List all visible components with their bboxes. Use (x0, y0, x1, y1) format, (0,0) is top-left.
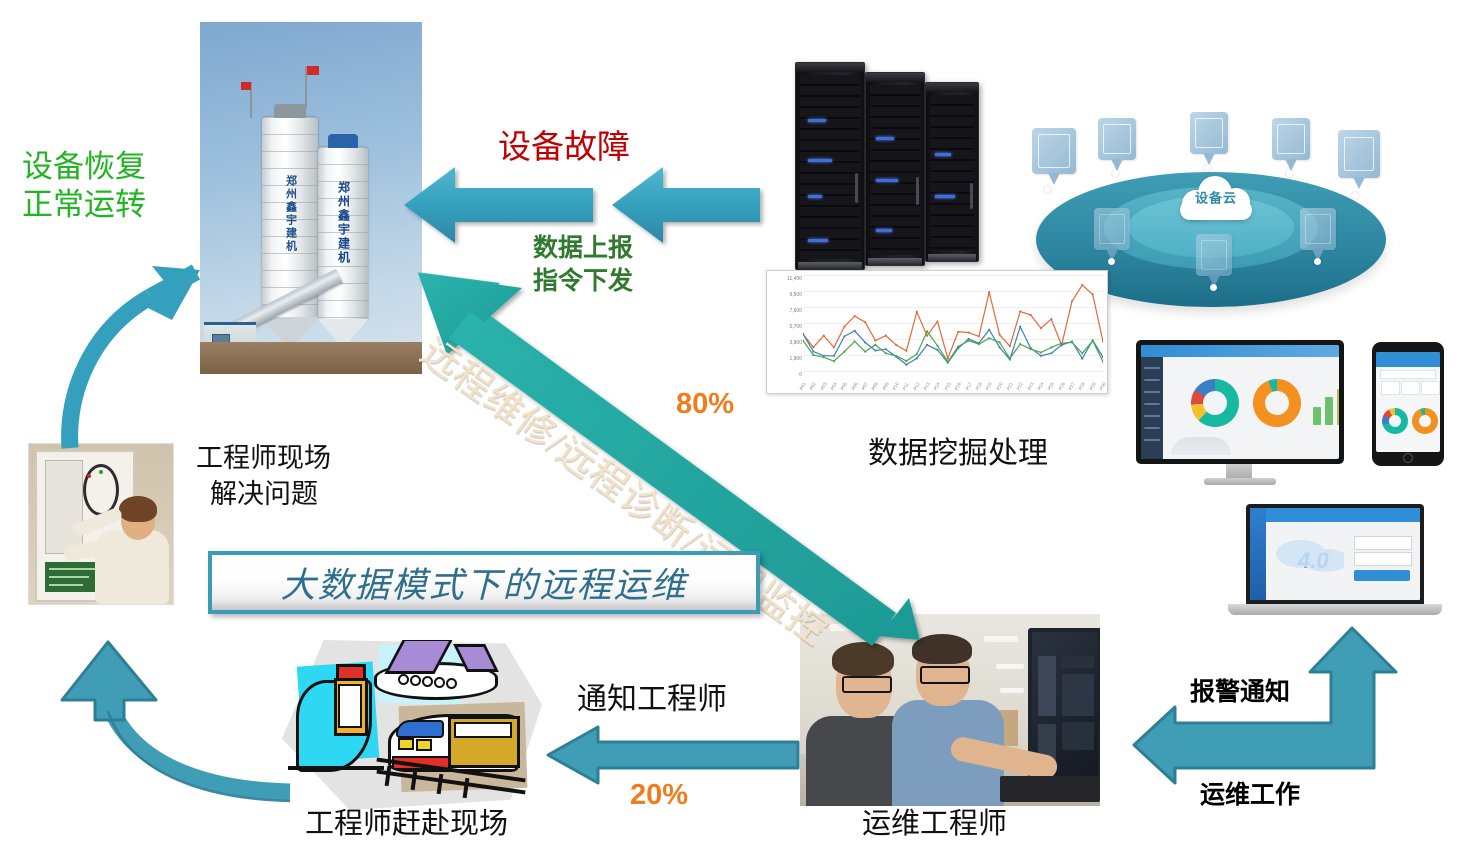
label-data-report-line1: 数据上报 (533, 232, 633, 265)
train-light-1 (398, 738, 414, 750)
chart-data-point (926, 335, 928, 337)
label-data-report-line2: 指令下发 (533, 265, 633, 298)
pin-tablet-icon (1338, 130, 1380, 178)
engineer-1-hair (832, 642, 894, 676)
chart-data-point (1019, 326, 1021, 328)
dispatch-curved-arrow (62, 642, 290, 801)
chart-x-tick: P12 (912, 382, 920, 391)
chart-data-point (916, 357, 918, 359)
chart-data-point (1030, 348, 1032, 350)
chart-x-tick: P17 (964, 382, 972, 391)
chart-x-tick: P21 (1005, 382, 1013, 391)
train-window-blue (396, 720, 444, 738)
pin-monitor-icon (1196, 234, 1232, 276)
chart-data-point (1040, 355, 1042, 357)
train-light-2 (416, 739, 432, 751)
office-keyboard (1000, 776, 1100, 802)
chart-data-point (978, 343, 980, 345)
chart-x-tick: P29 (1088, 382, 1096, 391)
ceiling-light-4 (1000, 688, 1024, 693)
chart-data-point (1102, 340, 1103, 342)
label-engineer-travel: 工程师赶赴现场 (305, 806, 508, 842)
chart-data-point (1081, 352, 1083, 354)
cloud-shape: 设备云 (1176, 172, 1256, 220)
chart-data-point (978, 335, 980, 337)
title-text: 大数据模式下的远程运维 (280, 557, 687, 608)
chart-data-point (957, 346, 959, 348)
chart-data-point (947, 361, 949, 363)
photo-concrete-plant: 郑州鑫宇建机 郑州鑫宇建机 (200, 22, 422, 374)
chart-data-point (988, 291, 990, 293)
diagram-canvas: 郑州鑫宇建机 郑州鑫宇建机 (0, 0, 1471, 858)
photo-engineer-cabinet (28, 443, 174, 605)
chart-data-point (926, 330, 928, 332)
chart-data-point (1050, 318, 1052, 320)
ceiling-light-2 (984, 636, 1018, 642)
engineer-2-glasses (920, 666, 970, 684)
server-rack-3 (925, 82, 979, 262)
title-plaque: 大数据模式下的远程运维 (208, 551, 760, 614)
cabinet-interior (45, 460, 83, 554)
chart-data-point (999, 334, 1001, 336)
pin-contact-icon (1190, 112, 1228, 154)
device-laptop-screen: 4.0 (1246, 504, 1424, 604)
pin-document-icon (1094, 208, 1130, 250)
engineer-2-hair (912, 634, 972, 664)
dashboard-screen (1141, 345, 1339, 459)
ceiling-light-3 (996, 664, 1024, 669)
pin-message-icon (1272, 118, 1310, 160)
chart-data-point (936, 320, 938, 322)
bar-1 (1313, 407, 1321, 425)
recover-curved-arrow (70, 266, 200, 448)
technician-hair (119, 496, 157, 522)
label-device-recover-line1: 设备恢复 (22, 148, 146, 186)
chart-data-point (926, 344, 928, 346)
chart-data-point (1040, 351, 1042, 353)
chart-data-point (1081, 358, 1083, 360)
chart-data-point (967, 340, 969, 342)
ceiling-light-1 (830, 624, 884, 631)
device-desktop-monitor (1136, 340, 1344, 464)
chart-x-tick: P11 (902, 382, 910, 391)
fault-arrow-right (612, 167, 760, 243)
ship-container-white (338, 684, 362, 728)
chart-x-tick: P13 (923, 382, 931, 391)
chart-data-point (1040, 327, 1042, 329)
chart-y-tick: 9,500 (789, 292, 802, 298)
device-mobile-phone (1372, 342, 1444, 466)
server-rack-1 (795, 62, 865, 270)
label-engineer-onsite: 工程师现场 解决问题 (196, 440, 331, 512)
photo-office-engineers (800, 614, 1100, 806)
photo-laptop-login: 4.0 (1210, 498, 1462, 628)
pin-calendar-icon (1098, 118, 1136, 160)
chart-data-point (905, 360, 907, 362)
chart-x-tick: P16 (954, 382, 962, 391)
label-alarm-notice: 报警通知 (1190, 672, 1290, 708)
chart-data-point (988, 329, 990, 331)
chart-data-point (988, 337, 990, 339)
chart-x-tick: P28 (1078, 382, 1086, 391)
chart-data-point (1092, 340, 1094, 342)
bar-2 (1325, 397, 1333, 425)
label-notify-engineer: 通知工程师 (577, 682, 727, 718)
chart-x-tick: P18 (974, 382, 982, 391)
chart-y-tick: 11,400 (787, 276, 802, 282)
chart-data-point (1030, 314, 1032, 316)
label-data-report: 数据上报 指令下发 (533, 232, 633, 298)
flag-2 (241, 82, 251, 90)
chart-x-tick: P19 (985, 382, 993, 391)
chart-data-point (1071, 300, 1073, 302)
label-data-mining: 数据挖掘处理 (868, 436, 1048, 472)
silo-left-top (274, 104, 306, 118)
chart-data-point (1009, 345, 1011, 347)
chart-data-point (1019, 343, 1021, 345)
clipart-transport (282, 640, 542, 810)
chart-x-tick: P22 (1016, 382, 1024, 391)
chart-x-tick: P27 (1068, 382, 1076, 391)
chart-data-point (916, 311, 918, 313)
chart-x-tick: P15 (943, 382, 951, 391)
chart-data-point (967, 331, 969, 333)
chart-data-point (936, 345, 938, 347)
chart-x-tick: P24 (1037, 382, 1045, 391)
engineer-1-glasses (842, 676, 892, 693)
chart-data-point (936, 349, 938, 351)
chart-data-point (957, 331, 959, 333)
chart-data-point (947, 357, 949, 359)
silo-right-top (328, 134, 358, 148)
chart-data-point (999, 346, 1001, 348)
photo-server-racks (785, 48, 985, 276)
laptop-base (1228, 604, 1442, 615)
chart-x-tick: P30 (1099, 382, 1107, 391)
label-ops-engineer: 运维工程师 (862, 806, 1007, 842)
plant-ground (200, 342, 422, 374)
pin-chart-icon (1032, 128, 1076, 174)
chart-x-tick: P14 (933, 382, 941, 391)
chart-x-tick: P25 (1047, 382, 1055, 391)
chart-data-point (916, 353, 918, 355)
chart-data-point (1081, 284, 1083, 286)
silo-right: 郑州鑫宇建机 (318, 147, 368, 319)
monitor-stand-base (1204, 478, 1276, 485)
chart-data-point (1019, 310, 1021, 312)
notify-arrow-left (548, 727, 798, 783)
label-engineer-onsite-line2: 解决问题 (196, 476, 331, 512)
label-device-recover: 设备恢复 正常运转 (22, 148, 146, 224)
label-pct-remote: 80% (676, 388, 734, 421)
server-rack-2 (865, 72, 925, 266)
chart-data-point (1061, 342, 1063, 344)
chart-data-point (905, 350, 907, 352)
chart-x-tick: P26 (1057, 382, 1065, 391)
chart-x-tick: P20 (995, 382, 1003, 391)
photo-dashboard-devices (1128, 336, 1468, 496)
label-pct-onsite: 20% (630, 779, 688, 812)
chart-data-point (1050, 352, 1052, 354)
chart-data-point (1071, 341, 1073, 343)
bar-3 (1337, 389, 1339, 425)
pin-medical-icon (1300, 208, 1336, 250)
chart-x-tick: P23 (1026, 382, 1034, 391)
label-engineer-onsite-line1: 工程师现场 (196, 440, 331, 476)
chart-data-point (905, 364, 907, 366)
water-line (288, 766, 384, 770)
chart-data-point (1009, 357, 1011, 359)
label-device-fault: 设备故障 (498, 120, 630, 168)
chart-data-point (999, 341, 1001, 343)
chart-data-point (1050, 346, 1052, 348)
chart-data-point (1092, 293, 1094, 295)
label-device-recover-line2: 正常运转 (22, 186, 146, 224)
cloud-label: 设备云 (1195, 187, 1237, 206)
label-ops-work: 运维工作 (1200, 775, 1300, 811)
flag-1 (307, 66, 319, 75)
